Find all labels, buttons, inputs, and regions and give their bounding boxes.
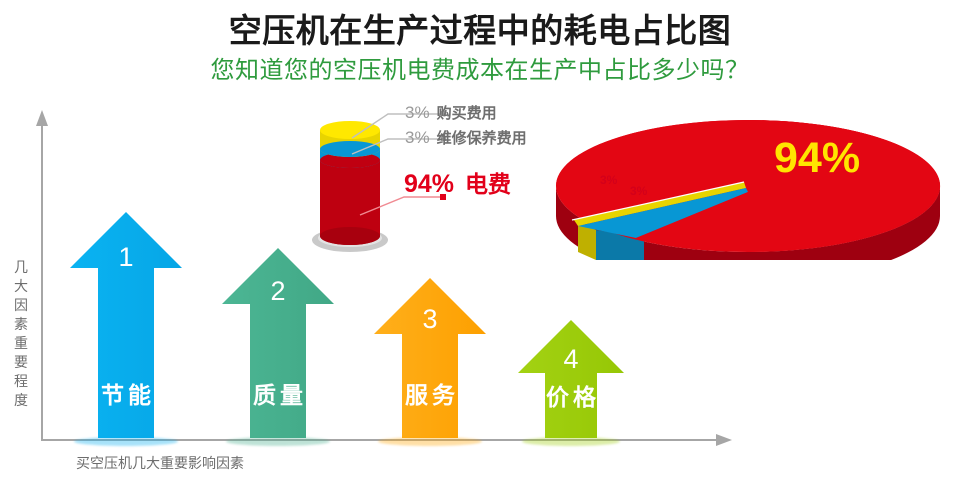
callout-maintenance-cost: 3%维修保养费用 — [405, 129, 527, 147]
bar-arrow-jiage: 4 价格 — [518, 320, 624, 438]
pie-label-purchase: 3% — [600, 174, 617, 186]
callout-label: 电费 — [465, 171, 511, 197]
x-axis-label: 买空压机几大重要影响因素 — [76, 453, 244, 473]
page-subtitle: 您知道您的空压机电费成本在生产中占比多少吗？ — [0, 50, 960, 85]
cylinder-shape-icon — [304, 118, 396, 254]
bar-label-fuwu: 服务 — [374, 384, 486, 407]
bar-arrow-zhiliang: 2 质量 — [222, 248, 334, 438]
callout-label: 维修保养费用 — [437, 130, 527, 147]
callout-percent: 3% — [405, 103, 430, 122]
bar-reflection-2 — [226, 437, 330, 446]
bar-arrow-fuwu: 3 服务 — [374, 278, 486, 438]
callout-purchase-cost: 3%购买费用 — [405, 104, 497, 122]
arrow-shape-icon — [374, 278, 486, 438]
bar-label-jiage: 价格 — [518, 386, 624, 409]
pie-chart-3d: 94% 3% 3% — [548, 112, 948, 260]
pie-label-electricity: 94% — [774, 137, 860, 180]
bar-label-zhiliang: 质量 — [222, 384, 334, 407]
callout-label: 购买费用 — [437, 105, 497, 122]
bar-rank-1: 1 — [70, 244, 182, 271]
bar-rank-4: 4 — [518, 346, 624, 373]
bar-reflection-1 — [74, 437, 178, 446]
callout-percent: 94% — [404, 170, 454, 198]
callout-percent: 3% — [405, 128, 430, 147]
pie-label-maintenance: 3% — [630, 185, 647, 197]
bar-reflection-4 — [522, 437, 620, 446]
bar-label-jieneng: 节能 — [70, 384, 182, 407]
arrow-shape-icon — [518, 320, 624, 438]
bar-arrow-jieneng: 1 节能 — [70, 212, 182, 438]
bar-rank-3: 3 — [374, 306, 486, 333]
infographic-canvas: 空压机在生产过程中的耗电占比图 您知道您的空压机电费成本在生产中占比多少吗？ 几… — [0, 0, 960, 483]
stacked-cylinder-chart — [304, 118, 396, 254]
callout-electricity-cost: 94%电费 — [404, 172, 511, 197]
y-axis-label: 几大因素重要程度 — [8, 258, 34, 410]
bar-rank-2: 2 — [222, 278, 334, 305]
page-title: 空压机在生产过程中的耗电占比图 — [0, 4, 960, 52]
bar-reflection-3 — [378, 437, 482, 446]
